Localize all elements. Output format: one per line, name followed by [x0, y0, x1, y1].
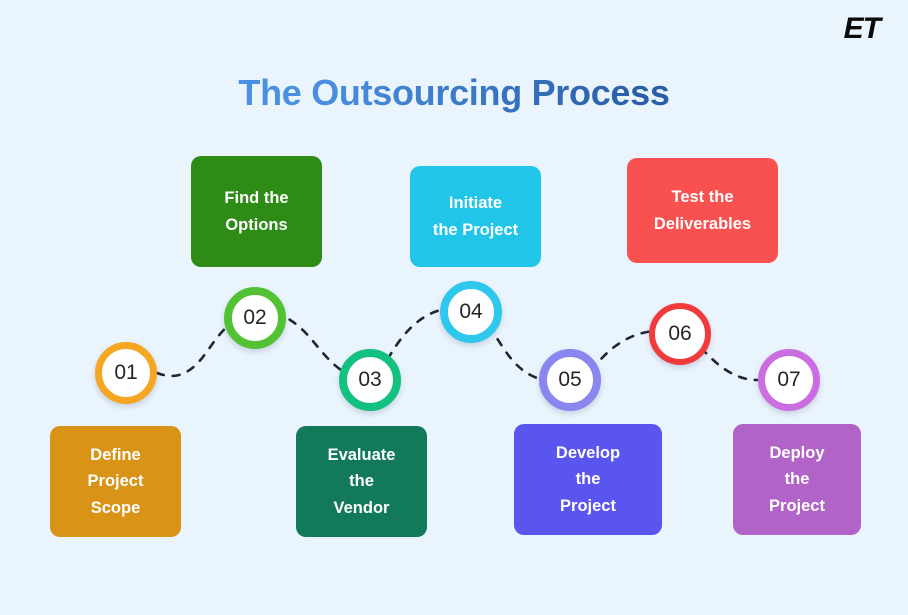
- et-logo: ET: [844, 14, 880, 44]
- page-title: The Outsourcing Process: [0, 72, 908, 114]
- step-number-circle-06[interactable]: 06: [649, 303, 711, 365]
- step-box-07[interactable]: Deploy the Project: [733, 424, 861, 535]
- step-box-04[interactable]: Initiate the Project: [410, 166, 541, 267]
- infographic-canvas: ET The Outsourcing Process Define Projec…: [0, 0, 908, 615]
- step-box-05[interactable]: Develop the Project: [514, 424, 662, 535]
- step-number-circle-03[interactable]: 03: [339, 349, 401, 411]
- step-number-circle-02[interactable]: 02: [224, 287, 286, 349]
- step-number-circle-04[interactable]: 04: [440, 281, 502, 343]
- step-box-02[interactable]: Find the Options: [191, 156, 322, 267]
- step-number-circle-05[interactable]: 05: [539, 349, 601, 411]
- step-number-circle-07[interactable]: 07: [758, 349, 820, 411]
- step-number-circle-01[interactable]: 01: [95, 342, 157, 404]
- step-box-03[interactable]: Evaluate the Vendor: [296, 426, 427, 537]
- step-box-06[interactable]: Test the Deliverables: [627, 158, 778, 263]
- step-box-01[interactable]: Define Project Scope: [50, 426, 181, 537]
